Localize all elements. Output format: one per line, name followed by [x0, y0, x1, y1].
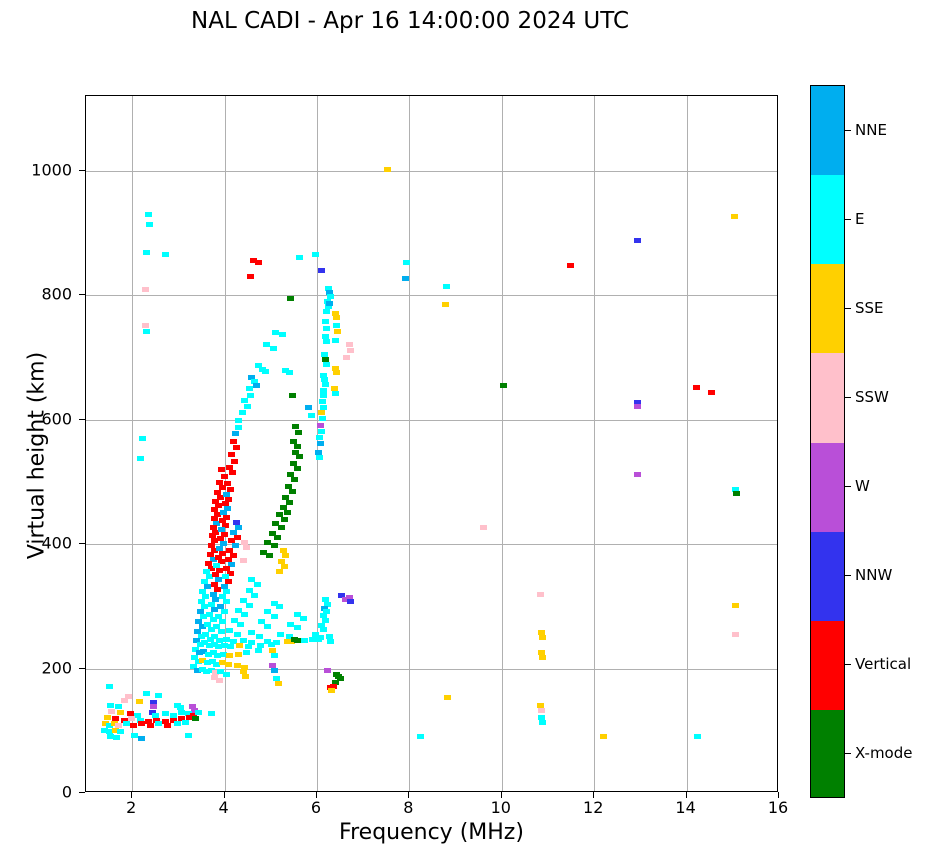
scatter-point — [442, 302, 449, 307]
scatter-point — [117, 710, 124, 715]
scatter-point — [480, 525, 487, 530]
scatter-point — [182, 720, 189, 725]
colorbar-label-vertical: Vertical — [855, 655, 911, 673]
y-tick-mark — [79, 419, 85, 420]
scatter-point — [226, 628, 233, 633]
scatter-point — [223, 637, 230, 642]
scatter-point — [117, 729, 124, 734]
scatter-point — [500, 383, 507, 388]
scatter-point — [322, 319, 329, 324]
page-title: NAL CADI - Apr 16 14:00:00 2024 UTC — [0, 8, 820, 34]
scatter-point — [248, 630, 255, 635]
scatter-point — [287, 296, 294, 301]
scatter-point — [732, 632, 739, 637]
scatter-point — [296, 255, 303, 260]
scatter-point — [241, 398, 248, 403]
scatter-point — [226, 653, 233, 658]
scatter-point — [266, 553, 273, 558]
scatter-point — [271, 543, 278, 548]
scatter-point — [319, 399, 326, 404]
scatter-point — [693, 385, 700, 390]
scatter-point — [300, 616, 307, 621]
x-tick-label: 8 — [403, 798, 413, 817]
colorbar-segment-x-mode — [811, 710, 844, 798]
scatter-point — [320, 627, 327, 632]
scatter-point — [320, 393, 327, 398]
scatter-point — [270, 346, 277, 351]
scatter-point — [237, 622, 244, 627]
scatter-point — [236, 643, 243, 648]
scatter-point — [318, 429, 325, 434]
scatter-point — [243, 545, 250, 550]
colorbar-label-x-mode: X-mode — [855, 744, 912, 762]
scatter-point — [113, 735, 120, 740]
scatter-point — [253, 383, 260, 388]
scatter-point — [256, 634, 263, 639]
scatter-point — [121, 698, 128, 703]
scatter-point — [231, 459, 238, 464]
colorbar-tick — [845, 397, 851, 398]
scatter-point — [162, 252, 169, 257]
scatter-point — [634, 238, 641, 243]
scatter-point — [208, 711, 215, 716]
scatter-point — [230, 439, 237, 444]
scatter-point — [323, 309, 330, 314]
scatter-point — [326, 301, 333, 306]
scatter-point — [308, 413, 315, 418]
x-axis-label: Frequency (MHz) — [85, 820, 778, 845]
scatter-point — [106, 684, 113, 689]
scatter-point — [292, 424, 299, 429]
scatter-point — [216, 678, 223, 683]
scatter-point — [239, 410, 246, 415]
scatter-point — [291, 477, 298, 482]
scatter-point — [305, 405, 312, 410]
scatter-point — [147, 723, 154, 728]
scatter-point — [332, 338, 339, 343]
scatter-point — [155, 693, 162, 698]
scatter-point — [227, 644, 234, 649]
scatter-data-layer — [86, 96, 777, 791]
scatter-point — [271, 614, 278, 619]
scatter-point — [275, 681, 282, 686]
scatter-point — [539, 635, 546, 640]
scatter-point — [322, 334, 329, 339]
colorbar-tick — [845, 753, 851, 754]
scatter-point — [276, 569, 283, 574]
colorbar-tick — [845, 219, 851, 220]
scatter-point — [255, 648, 262, 653]
ionogram-page: NAL CADI - Apr 16 14:00:00 2024 UTC 2468… — [0, 0, 951, 856]
scatter-point — [195, 710, 202, 715]
colorbar-segment-vertical — [811, 621, 844, 710]
scatter-point — [294, 638, 301, 643]
scatter-point — [289, 393, 296, 398]
scatter-point — [155, 721, 162, 726]
scatter-point — [347, 599, 354, 604]
scatter-point — [403, 260, 410, 265]
scatter-point — [234, 663, 241, 668]
colorbar-tick — [845, 575, 851, 576]
scatter-point — [301, 638, 308, 643]
colorbar-label-nnw: NNW — [855, 566, 892, 584]
scatter-point — [271, 653, 278, 658]
colorbar-segment-sse — [811, 264, 844, 353]
colorbar-tick — [845, 664, 851, 665]
scatter-point — [229, 470, 236, 475]
colorbar-segment-w — [811, 443, 844, 532]
scatter-point — [143, 691, 150, 696]
scatter-point — [235, 418, 242, 423]
x-tick-label: 4 — [219, 798, 229, 817]
scatter-point — [274, 535, 281, 540]
y-tick-mark — [79, 294, 85, 295]
scatter-point — [104, 715, 111, 720]
scatter-point — [324, 668, 331, 673]
y-tick-mark — [79, 543, 85, 544]
colorbar-label-ssw: SSW — [855, 388, 889, 406]
scatter-point — [192, 716, 199, 721]
scatter-point — [223, 672, 230, 677]
scatter-point — [221, 474, 228, 479]
x-tick-label: 14 — [675, 798, 695, 817]
scatter-point — [164, 723, 171, 728]
scatter-point — [115, 704, 122, 709]
scatter-point — [255, 260, 262, 265]
scatter-point — [733, 491, 740, 496]
colorbar-segment-nnw — [811, 532, 844, 621]
scatter-point — [294, 444, 301, 449]
scatter-point — [263, 342, 270, 347]
scatter-point — [136, 699, 143, 704]
x-tick-label: 2 — [126, 798, 136, 817]
scatter-point — [278, 525, 285, 530]
y-tick-label: 1000 — [10, 160, 72, 179]
scatter-point — [322, 382, 329, 387]
scatter-point — [218, 467, 225, 472]
scatter-point — [294, 466, 301, 471]
scatter-point — [242, 674, 249, 679]
scatter-point — [537, 592, 544, 597]
scatter-point — [123, 721, 130, 726]
scatter-point — [347, 348, 354, 353]
scatter-point — [312, 252, 319, 257]
scatter-point — [327, 639, 334, 644]
scatter-point — [346, 342, 353, 347]
scatter-point — [174, 721, 181, 726]
scatter-point — [247, 393, 254, 398]
x-tick-label: 16 — [768, 798, 788, 817]
y-tick-label: 200 — [10, 658, 72, 677]
scatter-point — [323, 339, 330, 344]
colorbar-tick — [845, 308, 851, 309]
scatter-point — [328, 688, 335, 693]
scatter-point — [234, 632, 241, 637]
colorbar-label-nne: NNE — [855, 121, 887, 139]
y-tick-mark — [79, 170, 85, 171]
scatter-point — [334, 329, 341, 334]
x-tick-label: 12 — [583, 798, 603, 817]
scatter-point — [218, 629, 225, 634]
scatter-point — [538, 708, 545, 713]
scatter-point — [732, 603, 739, 608]
scatter-point — [235, 652, 242, 657]
scatter-point — [402, 276, 409, 281]
scatter-point — [731, 214, 738, 219]
scatter-point — [323, 362, 330, 367]
scatter-point — [417, 734, 424, 739]
colorbar-segment-ssw — [811, 353, 844, 442]
colorbar-segment-e — [811, 175, 844, 264]
scatter-point — [240, 558, 247, 563]
colorbar-label-e: E — [855, 210, 864, 228]
scatter-point — [694, 734, 701, 739]
scatter-point — [130, 723, 137, 728]
scatter-point — [138, 721, 145, 726]
scatter-point — [225, 662, 232, 667]
scatter-point — [286, 370, 293, 375]
scatter-point — [244, 404, 251, 409]
scatter-point — [333, 323, 340, 328]
scatter-point — [142, 323, 149, 328]
scatter-point — [708, 390, 715, 395]
scatter-point — [185, 733, 192, 738]
scatter-point — [233, 445, 240, 450]
scatter-point — [318, 410, 325, 415]
colorbar-label-w: W — [855, 477, 870, 495]
scatter-point — [279, 332, 286, 337]
scatter-point — [139, 436, 146, 441]
scatter-point — [333, 315, 340, 320]
scatter-point — [243, 650, 250, 655]
scatter-point — [268, 642, 275, 647]
scatter-point — [315, 637, 322, 642]
scatter-point — [145, 212, 152, 217]
scatter-point — [246, 603, 253, 608]
scatter-point — [600, 734, 607, 739]
scatter-point — [384, 167, 391, 172]
scatter-point — [333, 370, 340, 375]
colorbar-label-sse: SSE — [855, 299, 884, 317]
scatter-point — [276, 604, 283, 609]
y-axis-label: Virtual height (km) — [25, 256, 50, 656]
scatter-point — [319, 416, 326, 421]
scatter-point — [539, 655, 546, 660]
scatter-point — [241, 612, 248, 617]
scatter-point — [286, 500, 293, 505]
scatter-point — [323, 326, 330, 331]
scatter-point — [443, 284, 450, 289]
x-tick-label: 6 — [311, 798, 321, 817]
scatter-point — [150, 704, 157, 709]
scatter-point — [108, 709, 115, 714]
scatter-point — [224, 481, 231, 486]
scatter-point — [343, 355, 350, 360]
y-tick-mark — [79, 668, 85, 669]
scatter-point — [246, 386, 253, 391]
plot-axes — [85, 95, 778, 792]
scatter-point — [232, 431, 239, 436]
scatter-point — [444, 695, 451, 700]
scatter-point — [143, 250, 150, 255]
scatter-point — [317, 423, 324, 428]
scatter-point — [294, 625, 301, 630]
colorbar-tick — [845, 130, 851, 131]
scatter-point — [316, 435, 323, 440]
azimuth-colorbar — [810, 85, 845, 798]
scatter-point — [264, 624, 271, 629]
scatter-point — [142, 287, 149, 292]
scatter-point — [316, 455, 323, 460]
scatter-point — [282, 553, 289, 558]
scatter-point — [634, 472, 641, 477]
scatter-point — [332, 391, 339, 396]
colorbar-segment-nne — [811, 86, 844, 175]
scatter-point — [228, 452, 235, 457]
scatter-point — [235, 425, 242, 430]
y-tick-mark — [79, 792, 85, 793]
scatter-point — [138, 736, 145, 741]
scatter-point — [251, 593, 258, 598]
x-tick-label: 10 — [491, 798, 511, 817]
scatter-point — [271, 668, 278, 673]
scatter-point — [634, 404, 641, 409]
scatter-point — [143, 329, 150, 334]
scatter-point — [162, 711, 169, 716]
scatter-point — [137, 456, 144, 461]
colorbar-tick — [845, 486, 851, 487]
scatter-point — [254, 582, 261, 587]
scatter-point — [335, 674, 342, 679]
scatter-point — [277, 632, 284, 637]
scatter-point — [262, 369, 269, 374]
scatter-point — [318, 268, 325, 273]
scatter-point — [539, 720, 546, 725]
scatter-point — [567, 263, 574, 268]
scatter-point — [146, 222, 153, 227]
scatter-point — [284, 639, 291, 644]
scatter-point — [107, 703, 114, 708]
scatter-point — [317, 441, 324, 446]
scatter-point — [295, 430, 302, 435]
scatter-point — [245, 644, 252, 649]
scatter-point — [247, 274, 254, 279]
y-tick-label: 0 — [10, 783, 72, 802]
scatter-point — [281, 517, 288, 522]
scatter-point — [296, 454, 303, 459]
scatter-point — [284, 510, 291, 515]
scatter-point — [289, 489, 296, 494]
